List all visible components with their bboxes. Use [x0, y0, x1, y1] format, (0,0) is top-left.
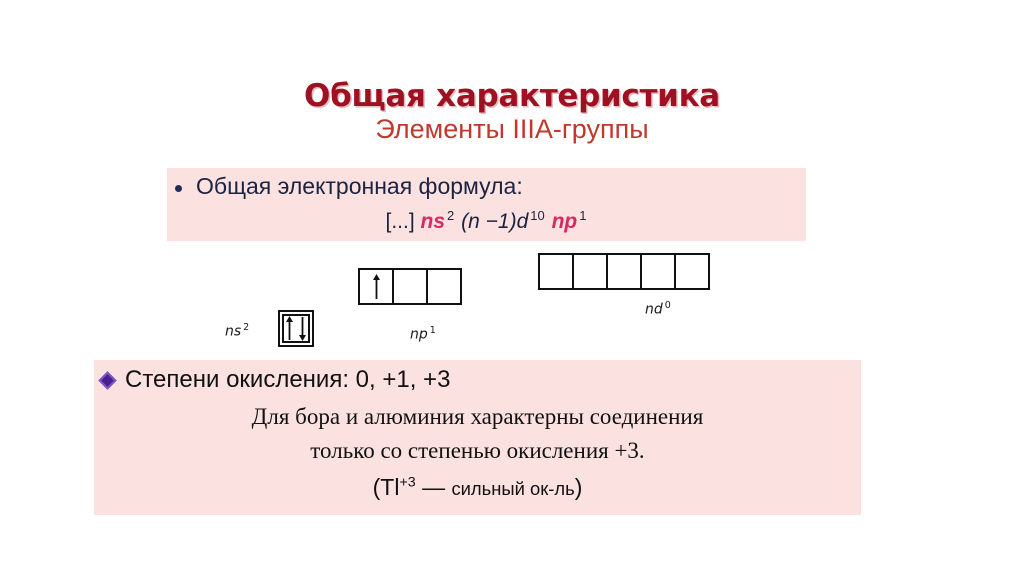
orbital-cell — [606, 253, 642, 290]
orbital-cell — [358, 268, 394, 305]
formula-term-ns: ns2 — [415, 210, 456, 233]
thallium-note: (Tl+3 — сильный ок-ль) — [94, 474, 861, 501]
thallium-note-middle: — — [416, 474, 452, 500]
orbital-label-nd-sup: 0 — [665, 300, 671, 311]
orbital-cell — [392, 268, 428, 305]
orbital-label-np-base: np — [410, 327, 428, 343]
title-block: Общая характеристика Элементы IIIA-групп… — [0, 80, 1024, 145]
formula-term-np-sup: 1 — [579, 208, 586, 223]
thallium-note-sup: +3 — [399, 474, 415, 490]
electron-formula: [...] ns2 (n −1)d10 np1 — [167, 208, 806, 234]
orbital-cell — [640, 253, 676, 290]
oxidation-body-line-2: только со степенью окисления +3. — [94, 438, 861, 464]
formula-term-ns-sup: 2 — [447, 208, 454, 223]
formula-term-d-sup: 10 — [530, 208, 544, 223]
arrow-up-icon — [285, 316, 294, 341]
dot-bullet-icon — [175, 185, 182, 192]
paired-arrows-icon — [280, 312, 312, 345]
orbital-group-ns — [278, 310, 314, 347]
formula-term-np-base: np — [552, 210, 578, 233]
page-title: Общая характеристика — [0, 80, 1024, 113]
orbital-group-nd — [538, 253, 710, 290]
arrow-up-icon — [372, 274, 381, 300]
orbital-row-nd — [538, 253, 710, 290]
orbital-row-np — [358, 268, 462, 305]
orbital-cell — [572, 253, 608, 290]
orbital-label-nd: nd0 — [645, 300, 671, 318]
orbital-cell — [278, 310, 314, 347]
orbital-row-ns — [278, 310, 314, 347]
thallium-note-tail: сильный ок-ль — [451, 478, 574, 499]
thallium-note-close: ) — [575, 474, 583, 500]
formula-term-ns-base: ns — [421, 210, 446, 233]
orbital-cell — [674, 253, 710, 290]
oxidation-heading-label: Степени окисления: 0, +1, +3 — [125, 366, 450, 394]
arrow-down-icon — [298, 316, 307, 341]
single-arrow-holder — [360, 270, 392, 303]
formula-term-d-base: (n −1)d — [461, 210, 528, 233]
oxidation-heading-row: Степени окисления: 0, +1, +3 — [101, 366, 450, 394]
formula-prefix: [...] — [386, 210, 415, 233]
orbital-group-np — [358, 268, 462, 305]
diamond-bullet-icon — [98, 371, 116, 389]
orbital-label-np-sup: 1 — [430, 325, 436, 336]
orbital-label-np: np1 — [410, 325, 436, 343]
orbital-cell — [538, 253, 574, 290]
oxidation-body-line-1: Для бора и алюминия характерны соединени… — [94, 404, 861, 430]
formula-heading-label: Общая электронная формула: — [196, 173, 523, 200]
orbital-label-nd-base: nd — [645, 302, 663, 318]
orbital-cell — [426, 268, 462, 305]
formula-term-np: np1 — [546, 210, 588, 233]
orbital-label-ns-sup: 2 — [243, 322, 249, 333]
thallium-note-open: (Tl — [373, 474, 400, 500]
orbital-label-ns-base: ns — [225, 324, 241, 340]
page-subtitle: Элементы IIIA-группы — [0, 114, 1024, 145]
formula-heading-row: Общая электронная формула: — [175, 173, 775, 200]
formula-term-d: (n −1)d10 — [455, 210, 545, 233]
slide-canvas: Общая характеристика Элементы IIIA-групп… — [0, 0, 1024, 574]
orbital-label-ns: ns2 — [225, 322, 249, 340]
